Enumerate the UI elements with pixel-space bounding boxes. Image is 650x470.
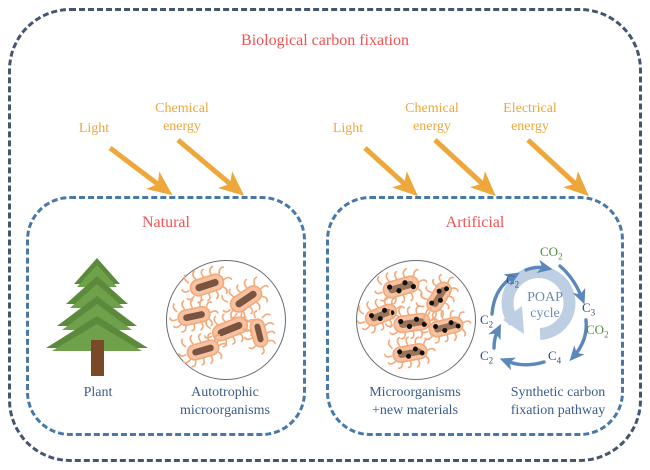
pine-tree-icon [44,256,150,376]
arrow-artificial-electrical [528,140,580,188]
arrow-c3-to-c4 [574,320,586,356]
cycle-node-c3: C3 [582,300,595,318]
diagram-canvas: Biological carbon fixation Natural Artif… [0,0,650,470]
cycle-node-c2-left: C2 [480,312,493,330]
poap-cycle-icon: POAP cycle CO2 C2 C3 CO2 C2 C2 C4 [478,244,626,380]
arrow-artificial-light [365,148,409,188]
cycle-node-c2-bottom: C2 [480,348,493,366]
petri-dish-bacteria-nanoparticles-icon [356,260,476,380]
arrow-c2-to-c2 [494,330,498,348]
cycle-node-co2-right: CO2 [586,322,609,340]
tree-trunk [91,340,104,376]
caption-plant: Plant [46,384,150,402]
caption-autotrophic-microorganisms: Autotrophic microorganisms [154,384,296,420]
arrow-natural-light [110,148,163,188]
cycle-node-c4: C4 [548,348,561,366]
cycle-node-co2-top: CO2 [540,244,563,262]
poap-cycle-center-label: POAP cycle [504,290,586,322]
arrow-natural-chemical [178,140,235,188]
arrow-artificial-chemical [435,140,487,188]
caption-synthetic-carbon-fixation-pathway: Synthetic carbon fixation pathway [488,384,628,420]
arrow-c4-to-c2 [506,361,544,365]
petri-dish-bacteria-icon [166,260,286,380]
cycle-node-c2-top: C2 [506,272,519,290]
caption-microorganisms-new-materials: Microorganisms +new materials [344,384,486,420]
